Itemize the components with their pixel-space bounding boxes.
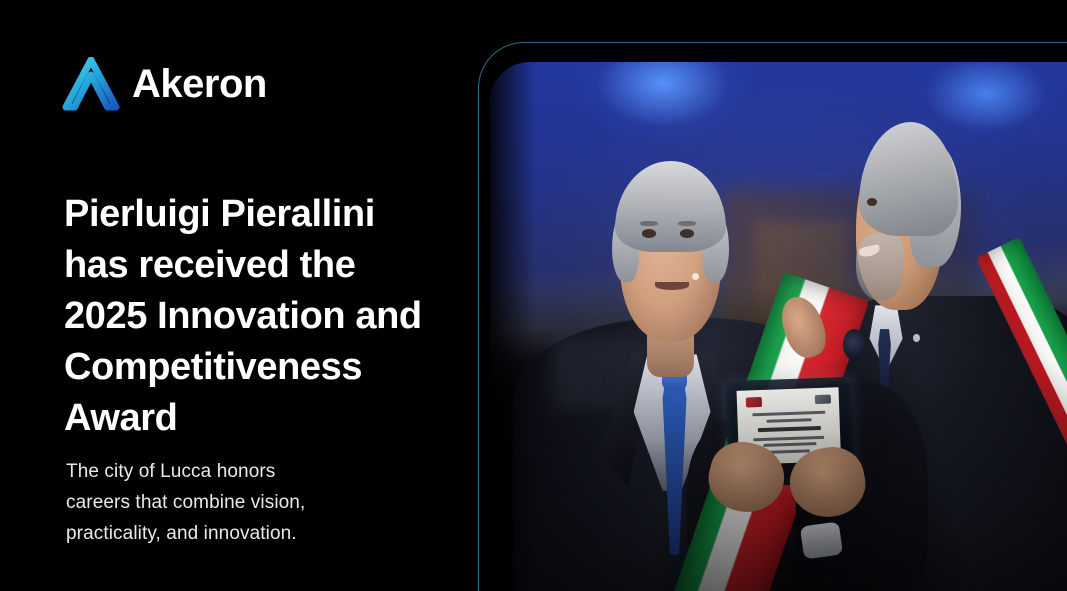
headline-line: has received the bbox=[64, 244, 355, 286]
certificate-text-line bbox=[752, 411, 825, 417]
official-shirt-cuff bbox=[800, 522, 843, 560]
headline-line: Award bbox=[64, 397, 177, 439]
certificate-text-line bbox=[763, 443, 816, 448]
brand-name: Akeron bbox=[132, 64, 267, 104]
recipient-eye-left bbox=[642, 229, 656, 238]
award-announcement-card: Akeron Pierluigi Pierallini has received… bbox=[0, 0, 1067, 591]
subtitle-line: The city of Lucca honors bbox=[66, 461, 275, 482]
subtitle-line: practicality, and innovation. bbox=[66, 523, 297, 544]
award-ceremony-photo bbox=[490, 62, 1067, 591]
brand-lockup: Akeron bbox=[62, 57, 267, 111]
recipient-hair bbox=[615, 161, 725, 252]
certificate-text-line bbox=[766, 419, 811, 424]
presenting-official bbox=[790, 115, 1067, 591]
official-hair bbox=[859, 122, 958, 236]
certificate-emblem-right-icon bbox=[814, 395, 831, 404]
subtitle-line: careers that combine vision, bbox=[66, 492, 305, 513]
sash-rosette bbox=[843, 329, 866, 360]
certificate-text-line bbox=[769, 450, 810, 454]
page-subtitle: The city of Lucca honors careers that co… bbox=[66, 457, 396, 549]
page-title: Pierluigi Pierallini has received the 20… bbox=[64, 189, 464, 444]
certificate-emblem-left-icon bbox=[745, 397, 762, 407]
headline-line: 2025 Innovation and bbox=[64, 295, 422, 337]
text-column: Akeron Pierluigi Pierallini has received… bbox=[0, 0, 478, 591]
photo-panel bbox=[478, 0, 1067, 591]
akeron-chevron-logo-icon bbox=[62, 57, 120, 111]
official-beard bbox=[856, 234, 904, 301]
recipient-brow-left bbox=[640, 221, 658, 226]
certificate-text-line bbox=[752, 436, 823, 441]
headline-line: Pierluigi Pierallini bbox=[64, 193, 375, 235]
headline-line: Competitiveness bbox=[64, 346, 362, 388]
certificate-recipient-name bbox=[757, 426, 820, 432]
recipient-brow-right bbox=[678, 221, 696, 226]
